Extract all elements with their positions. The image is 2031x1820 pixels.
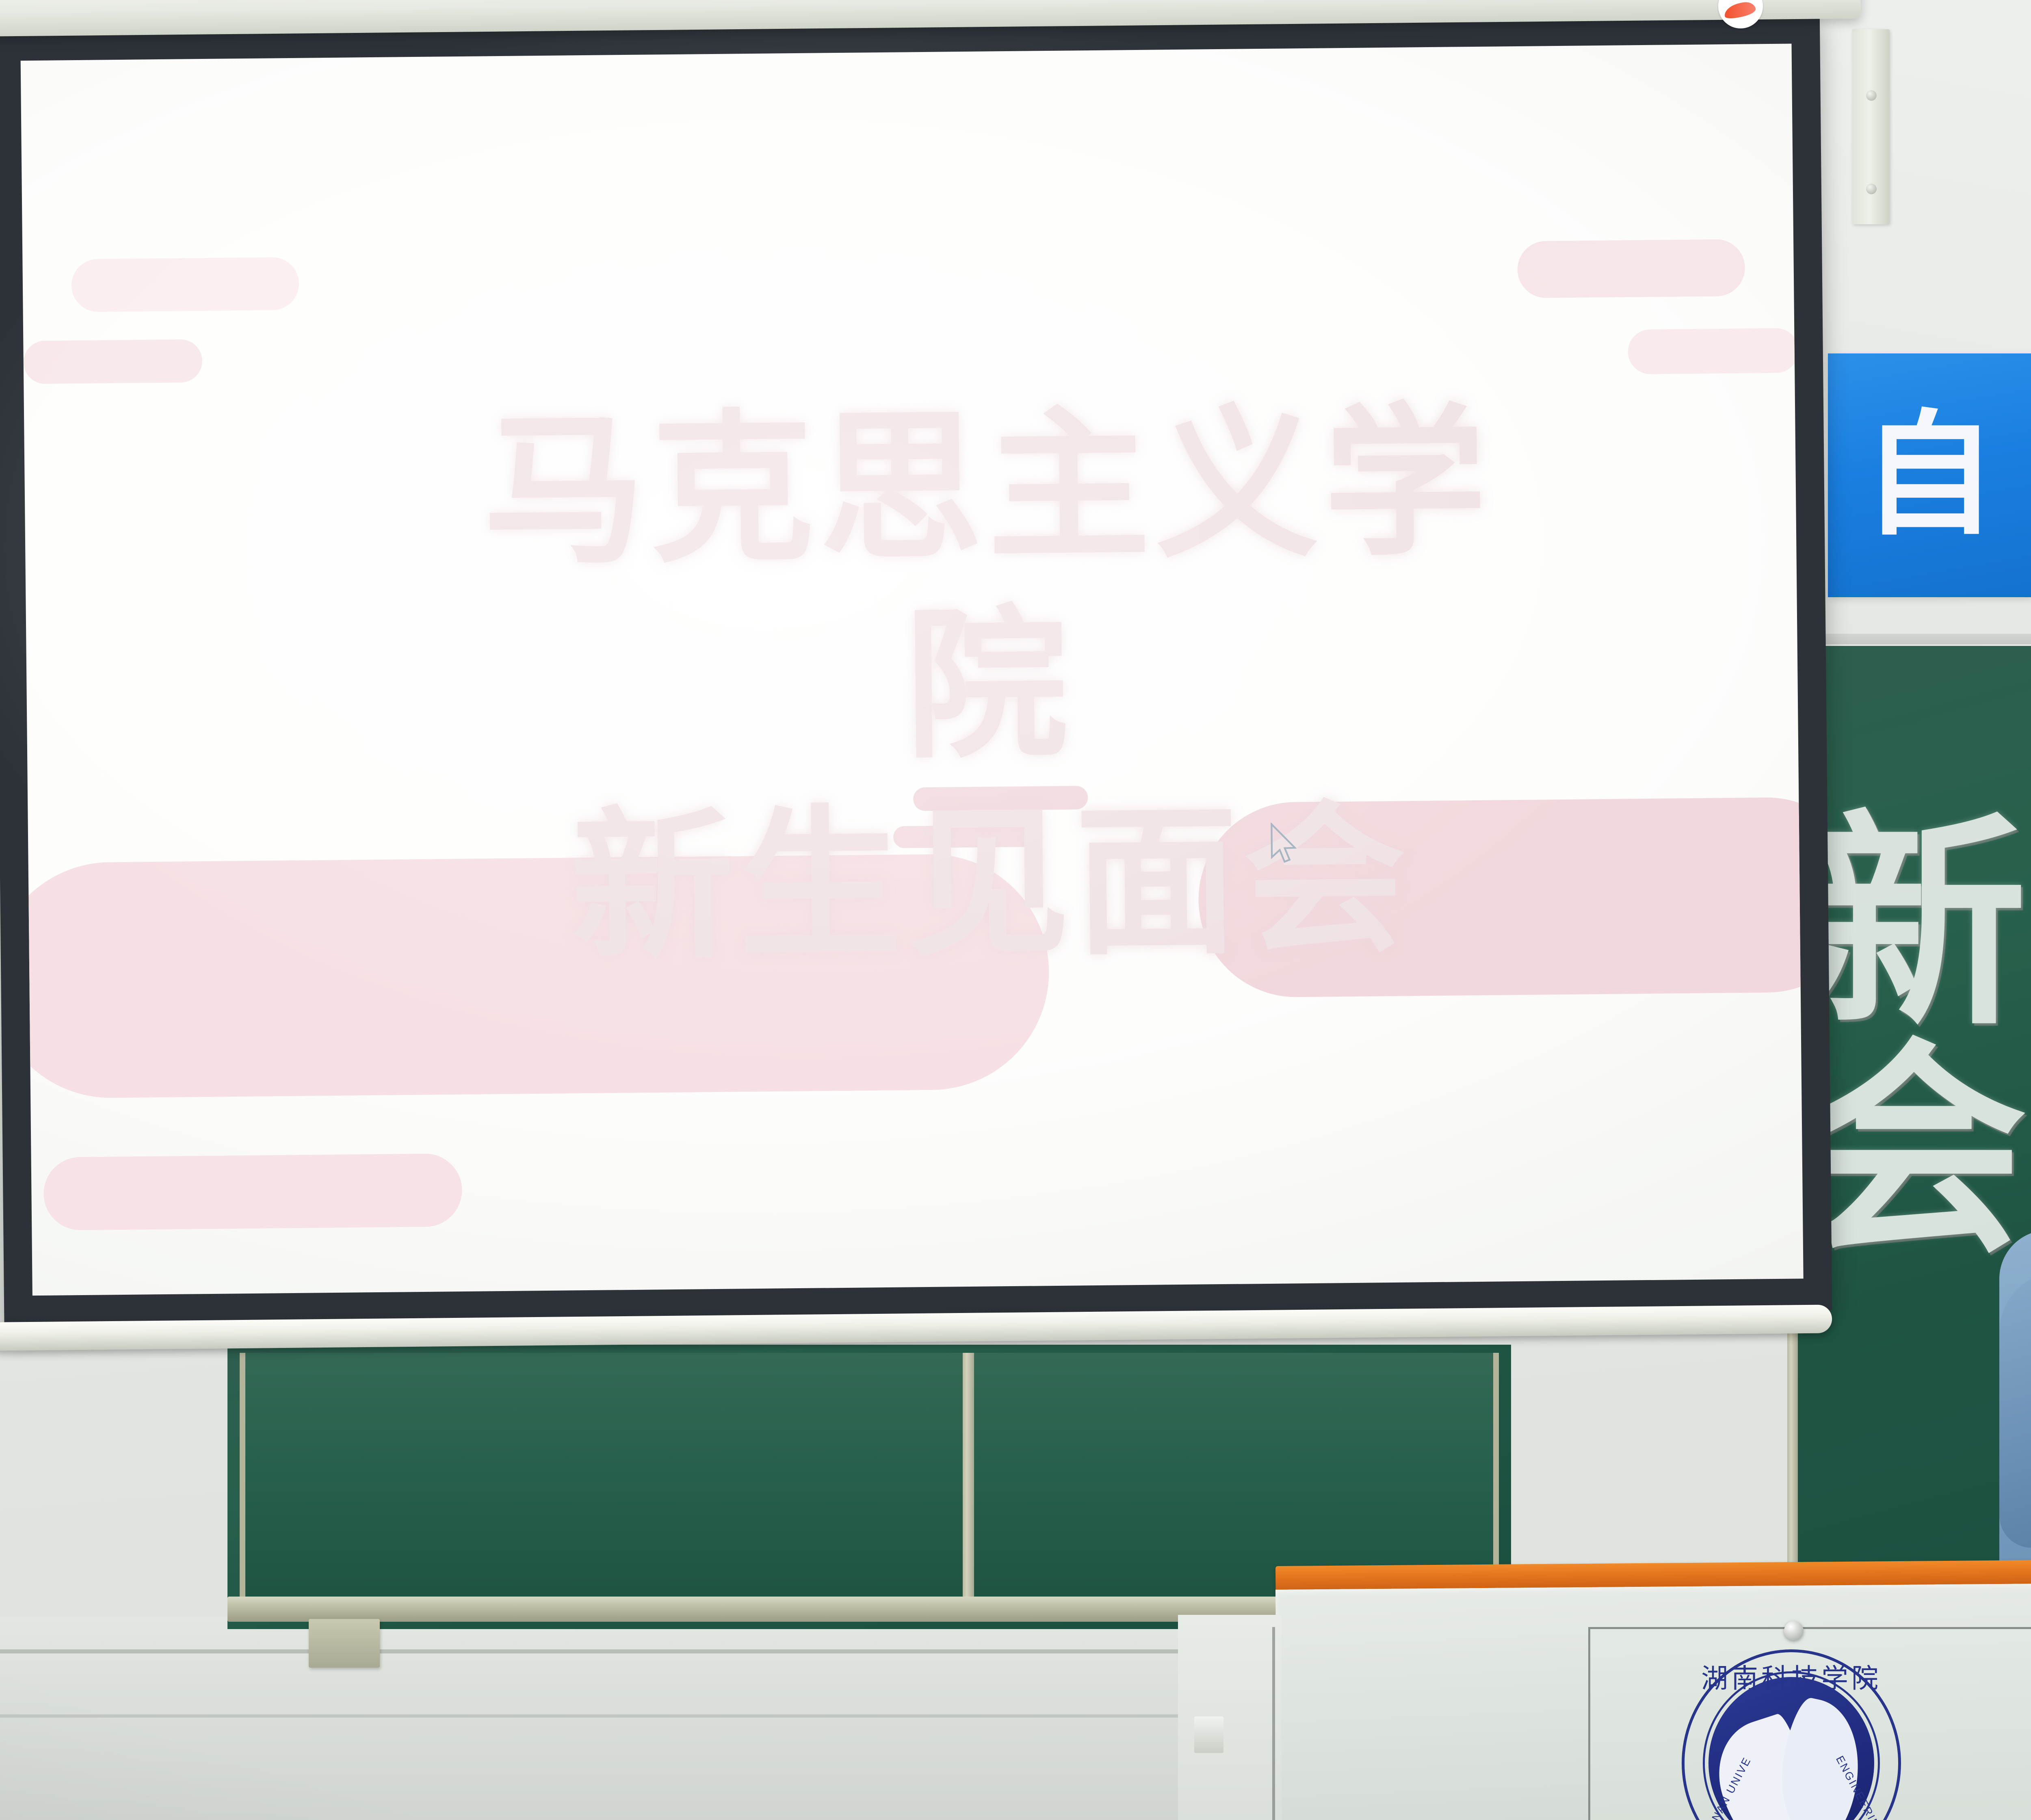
blackboard-lower-divider: [963, 1353, 974, 1609]
baseboard-trim-upper: [0, 1649, 1280, 1653]
slide-title-text: 马克思主义学院 新生见面会: [438, 383, 1541, 989]
projection-screen-surface[interactable]: 马克思主义学院 新生见面会: [21, 43, 1804, 1296]
podium-side-panel: [1178, 1615, 1282, 1820]
mouse-pointer-icon: [1269, 822, 1301, 868]
projection-screen-bezel: 马克思主义学院 新生见面会: [0, 14, 1832, 1328]
banner-tile-1: 自: [1828, 353, 2031, 597]
slide-decor-bar-right-1: [1517, 239, 1745, 298]
slide-decor-bar-left-1: [71, 257, 299, 312]
podium-door-hinge[interactable]: [1194, 1716, 1223, 1753]
slide-decor-bar-bottom: [43, 1153, 463, 1231]
lectern-podium: 湖南科技学院 HUNAN UNIVE ENGINEERING: [1275, 1566, 2031, 1820]
arm-left: [1999, 1272, 2031, 1548]
slide-decor-bar-left-2: [23, 339, 202, 384]
wall-motto-banner: 自 强 不 息: [1828, 353, 2031, 622]
chalk-tray-bracket: [309, 1619, 380, 1668]
university-logo: 湖南科技学院 HUNAN UNIVE ENGINEERING: [1682, 1649, 1901, 1820]
logo-chinese-name: 湖南科技学院: [1682, 1657, 1901, 1696]
classroom-scene: 新生见面会 思 自 强 不 息 Ke shi Quartz 12 1 2 3 4…: [0, 0, 2031, 1820]
bracket-screw-top: [1866, 90, 1877, 101]
baseboard-trim-lower: [0, 1714, 1280, 1718]
slide-decor-bar-right-2: [1628, 328, 1799, 374]
bracket-screw-bottom: [1866, 184, 1877, 194]
podium-side-seam: [1272, 1627, 1275, 1820]
screen-mount-bracket: [1852, 29, 1890, 224]
podium-knob-icon[interactable]: [1784, 1621, 1804, 1640]
